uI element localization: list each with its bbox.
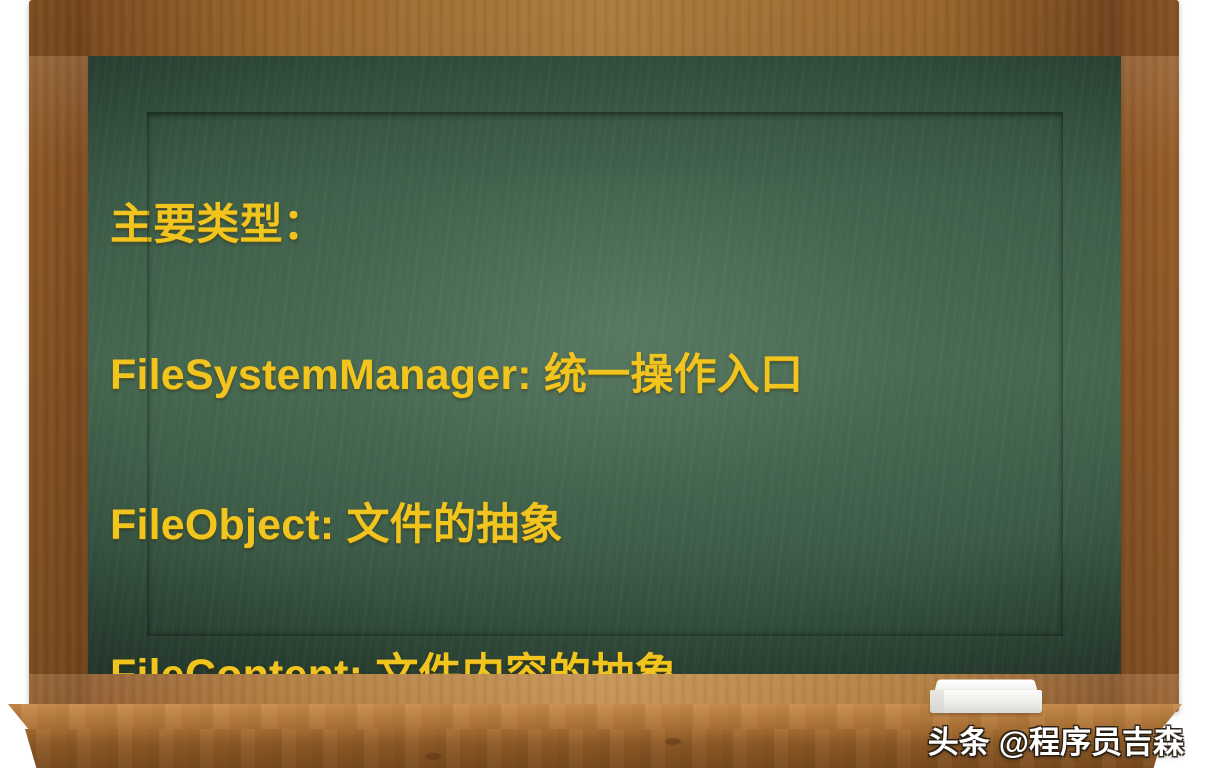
wood-knot-icon — [425, 753, 441, 760]
eraser-left-face — [930, 690, 944, 713]
board-line-heading-types: 主要类型： — [110, 200, 1113, 250]
chalkboard-frame: 主要类型： FileSystemManager: 统一操作入口 FileObje… — [29, 0, 1179, 712]
chalkboard-eraser-icon — [930, 679, 1042, 713]
board-line-filecontent: FileContent: 文件内容的抽象 — [110, 650, 1113, 674]
watermark-handle: @程序员吉森 — [999, 727, 1184, 758]
slide-scene: 主要类型： FileSystemManager: 统一操作入口 FileObje… — [0, 0, 1206, 780]
board-line-filesystemmanager: FileSystemManager: 统一操作入口 — [110, 350, 1113, 400]
watermark-platform: 头条 — [928, 727, 990, 758]
chalkboard-surface: 主要类型： FileSystemManager: 统一操作入口 FileObje… — [88, 56, 1121, 674]
chalkboard-text-block: 主要类型： FileSystemManager: 统一操作入口 FileObje… — [110, 100, 1113, 674]
board-line-fileobject: FileObject: 文件的抽象 — [110, 500, 1113, 550]
eraser-front-face — [930, 690, 1042, 713]
wood-knot-icon — [665, 738, 681, 745]
watermark: 头条 @程序员吉森 — [928, 727, 1184, 758]
